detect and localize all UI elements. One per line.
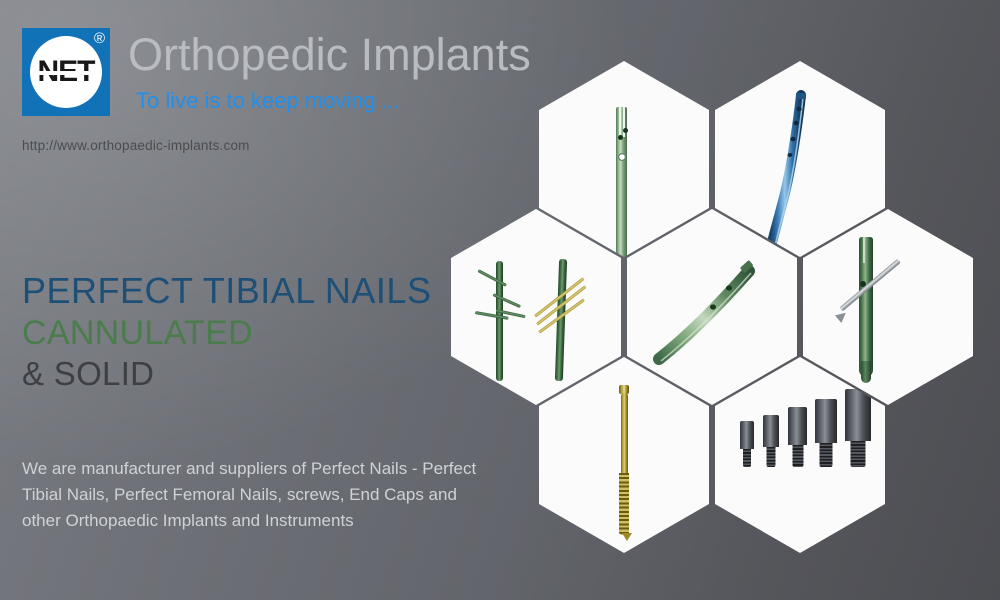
nail-tip xyxy=(861,361,871,383)
website-url[interactable]: http://www.orthopaedic-implants.com xyxy=(22,138,250,153)
screw-shaft-gold xyxy=(621,393,628,475)
banner-root: NET ® Orthopedic Implants To live is to … xyxy=(0,0,1000,600)
end-cap-medium xyxy=(788,407,807,467)
headline-line-2: CANNULATED xyxy=(22,315,431,352)
registered-trademark-icon: ® xyxy=(94,31,105,46)
product-hex-cluster xyxy=(465,55,965,555)
screw-threads xyxy=(619,473,629,535)
logo-stripe xyxy=(36,71,96,75)
headline-line-1: PERFECT TIBIAL NAILS xyxy=(22,272,431,311)
nail-locking-hole xyxy=(618,135,623,140)
nail-slot xyxy=(863,237,865,263)
screw-tip-icon xyxy=(835,309,849,323)
end-cap-smallest xyxy=(740,421,754,467)
nail-cannulation-hole xyxy=(618,153,626,161)
end-cap-large xyxy=(815,399,837,467)
screw-tip xyxy=(622,533,632,541)
end-cap-largest xyxy=(845,389,871,467)
end-cap-small xyxy=(763,415,779,467)
nail-locking-hole xyxy=(623,128,628,133)
tibial-nail-green-tapered xyxy=(859,237,873,377)
logo-block[interactable]: NET ® xyxy=(22,28,110,116)
description-text: We are manufacturer and suppliers of Per… xyxy=(22,456,492,533)
headline-line-3: & SOLID xyxy=(22,356,431,392)
brand-tagline: To live is to keep moving ... xyxy=(136,88,400,114)
nail-slot xyxy=(619,107,621,137)
net-logo: NET ® xyxy=(22,28,110,116)
headline-group: PERFECT TIBIAL NAILS CANNULATED & SOLID xyxy=(22,272,431,391)
